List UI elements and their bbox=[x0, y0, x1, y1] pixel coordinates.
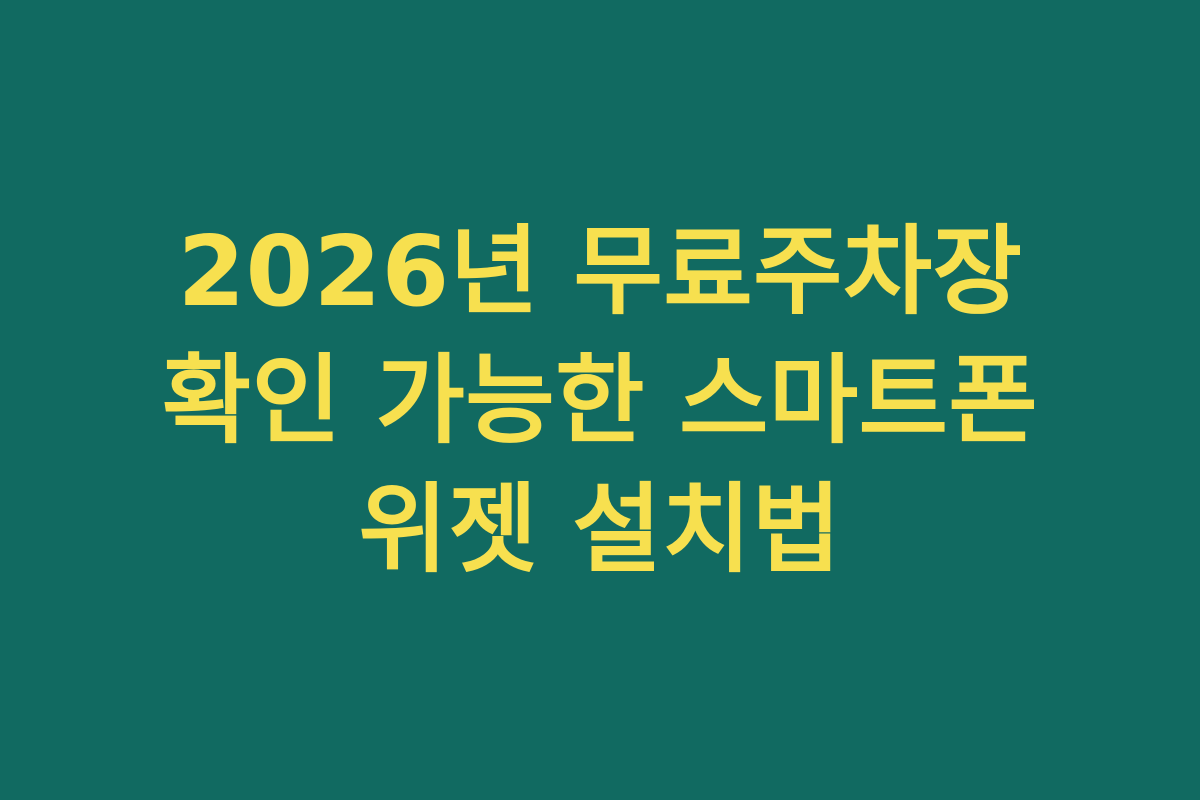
page-title: 2026년 무료주차장 확인 가능한 스마트폰 위젯 설치법 bbox=[122, 207, 1078, 594]
thumbnail-card: 2026년 무료주차장 확인 가능한 스마트폰 위젯 설치법 bbox=[0, 0, 1200, 800]
